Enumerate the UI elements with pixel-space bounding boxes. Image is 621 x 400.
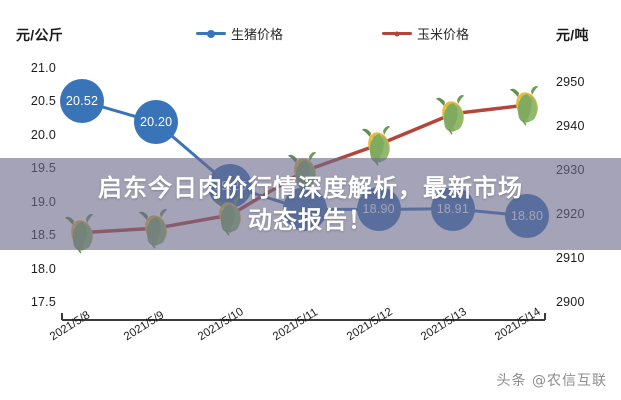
data-point-bubble[interactable]: 20.20 [134, 100, 178, 144]
chart-canvas: 元/公斤 生猪价格 玉米价格 元/吨 21.020.520.019.519.01… [0, 0, 621, 400]
data-point-label: 20.20 [140, 115, 172, 129]
left-axis-tick: 20.5 [16, 94, 56, 108]
watermark-label: 头条 @农信互联 [497, 370, 607, 390]
left-axis-tick: 20.0 [16, 128, 56, 142]
left-axis-tick: 18.0 [16, 262, 56, 276]
left-axis-tick: 21.0 [16, 61, 56, 75]
overlay-title-text: 启东今日肉价行情深度解析，最新市场 动态报告！ [0, 160, 621, 248]
data-point-label: 20.52 [66, 94, 98, 108]
corn-cob-icon [507, 84, 547, 126]
left-axis-tick: 17.5 [16, 295, 56, 309]
right-axis-tick: 2940 [556, 119, 602, 133]
overlay-title-line-1: 启东今日肉价行情深度解析，最新市场 [98, 172, 523, 204]
data-point-bubble[interactable]: 20.52 [60, 79, 104, 123]
right-axis-tick: 2910 [556, 251, 602, 265]
overlay-title-line-2: 动态报告！ [248, 204, 373, 236]
right-axis-tick: 2950 [556, 75, 602, 89]
right-axis-tick: 2900 [556, 295, 602, 309]
corn-cob-icon [433, 93, 473, 135]
